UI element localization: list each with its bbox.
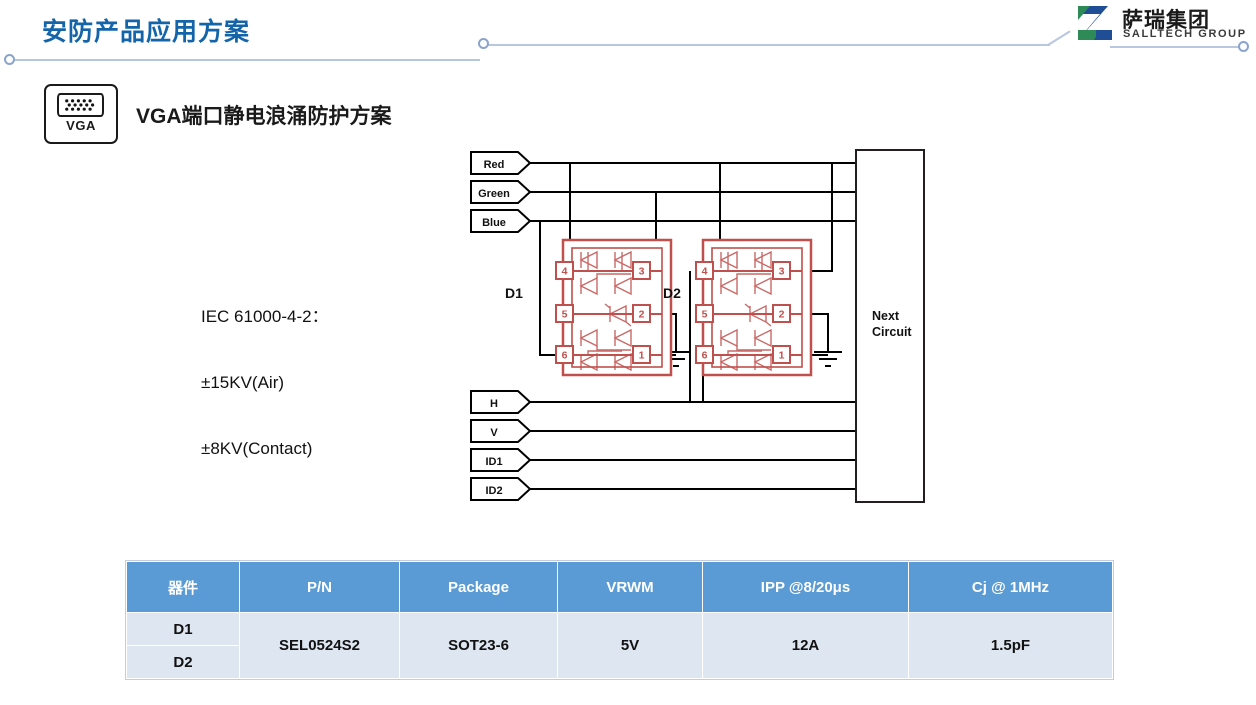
cell-cj: 1.5pF xyxy=(909,613,1113,679)
signal-tag-h: H xyxy=(471,391,530,413)
pin-label: 4 xyxy=(562,266,568,278)
table-row: D1 SEL0524S2 SOT23-6 5V 12A 1.5pF xyxy=(127,613,1113,646)
signal-tag-label: Green xyxy=(478,188,510,200)
table-header-package: Package xyxy=(400,562,558,613)
salltech-logo-mark-icon xyxy=(1078,6,1116,40)
dsub-pins-icon xyxy=(59,95,102,115)
pin-label: 3 xyxy=(779,266,785,278)
next-circuit-block: Next Circuit xyxy=(856,150,924,502)
signal-tag-green: Green xyxy=(471,181,530,203)
pin-label: 6 xyxy=(702,350,708,362)
header-divider-left xyxy=(14,59,480,61)
company-logo: 萨瑞集团 SALLTECH GROUP xyxy=(1078,4,1248,46)
signal-tag-label: ID2 xyxy=(485,485,502,497)
spec-line-2: ±15KV(Air) xyxy=(201,372,329,394)
signal-tag-red: Red xyxy=(471,152,530,174)
cell-pn: SEL0524S2 xyxy=(240,613,400,679)
cell-device-d1: D1 xyxy=(127,613,240,646)
protection-circuit-schematic: Red Green Blue H V ID1 ID2 xyxy=(460,140,940,515)
table-header-device: 器件 xyxy=(127,562,240,613)
next-circuit-line2: Circuit xyxy=(872,325,912,339)
logo-english-name: SALLTECH GROUP xyxy=(1123,28,1247,40)
signal-tag-label: V xyxy=(490,427,498,439)
table-header-vrwm: VRWM xyxy=(558,562,703,613)
pin-label: 5 xyxy=(562,309,568,321)
pin-label: 3 xyxy=(639,266,645,278)
cell-package: SOT23-6 xyxy=(400,613,558,679)
vga-connector-icon: VGA xyxy=(44,84,118,144)
header-divider-top xyxy=(484,44,1050,46)
signal-tag-label: H xyxy=(490,398,498,410)
signal-tag-label: ID1 xyxy=(485,456,502,468)
vga-icon-label: VGA xyxy=(46,118,116,133)
signal-label-tags: Red Green Blue H V ID1 ID2 xyxy=(471,152,530,500)
pin-label: 1 xyxy=(639,350,645,362)
table-header-ipp: IPP @8/20μs xyxy=(703,562,909,613)
section-title: VGA端口静电浪涌防护方案 xyxy=(136,100,392,130)
device-d1-ref: D1 xyxy=(505,285,523,301)
device-d2-ref: D2 xyxy=(663,285,681,301)
next-circuit-line1: Next xyxy=(872,309,900,323)
pin-label: 5 xyxy=(702,309,708,321)
cell-vrwm: 5V xyxy=(558,613,703,679)
header-dot-left-icon xyxy=(4,54,15,65)
device-d1: D1 xyxy=(505,240,671,375)
pin-label: 2 xyxy=(639,309,645,321)
device-spec-table: 器件 P/N Package VRWM IPP @8/20μs Cj @ 1MH… xyxy=(126,561,1113,679)
table-header-cj: Cj @ 1MHz xyxy=(909,562,1113,613)
dsub-shell-icon xyxy=(57,93,104,117)
page-title: 安防产品应用方案 xyxy=(42,12,250,48)
pin-label: 4 xyxy=(702,266,708,278)
signal-tag-id1: ID1 xyxy=(471,449,530,471)
signal-tag-blue: Blue xyxy=(471,210,530,232)
signal-tag-label: Blue xyxy=(482,217,506,229)
table-header-row: 器件 P/N Package VRWM IPP @8/20μs Cj @ 1MH… xyxy=(127,562,1113,613)
pin-label: 6 xyxy=(562,350,568,362)
cell-device-d2: D2 xyxy=(127,646,240,679)
cell-ipp: 12A xyxy=(703,613,909,679)
page-header: 安防产品应用方案 萨瑞集团 SALLTECH GROUP xyxy=(0,0,1256,70)
spec-line-3: ±8KV(Contact) xyxy=(201,438,329,460)
spec-spacer xyxy=(201,504,329,520)
signal-tag-v: V xyxy=(471,420,530,442)
pin-label: 1 xyxy=(779,350,785,362)
device-d2: D2 4 xyxy=(663,240,811,375)
signal-tag-id2: ID2 xyxy=(471,478,530,500)
spec-line-1: IEC 61000-4-2： xyxy=(201,306,329,328)
header-divider-slant xyxy=(1047,30,1070,45)
schematic-svg: Red Green Blue H V ID1 ID2 xyxy=(460,140,940,515)
header-divider-right xyxy=(1110,46,1240,48)
table-header-pn: P/N xyxy=(240,562,400,613)
header-dot-middle-icon xyxy=(478,38,489,49)
pin-label: 2 xyxy=(779,309,785,321)
signal-tag-label: Red xyxy=(484,159,505,171)
